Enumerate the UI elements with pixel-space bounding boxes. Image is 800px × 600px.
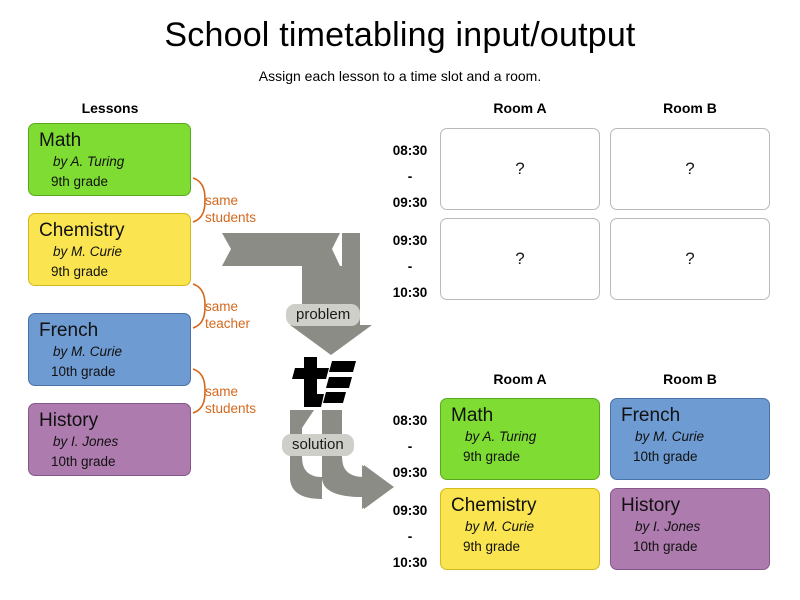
lesson-card-history[interactable]: History by I. Jones 10th grade: [28, 403, 191, 476]
constraint-line-1: same: [205, 192, 256, 209]
problem-label: problem: [286, 304, 360, 326]
lesson-subject: French: [621, 405, 769, 427]
timeslot-start: 09:30: [378, 228, 442, 254]
timeslot-start: 08:30: [378, 408, 442, 434]
problem-room-header-a: Room A: [440, 100, 600, 116]
lesson-grade: 9th grade: [39, 172, 190, 192]
timefold-logo-icon: [288, 357, 356, 407]
lesson-subject: Math: [39, 130, 190, 152]
unassigned-marker: ?: [515, 159, 524, 179]
timeslot-start: 09:30: [378, 498, 442, 524]
unassigned-marker: ?: [515, 249, 524, 269]
lesson-grade: 10th grade: [39, 452, 190, 472]
problem-slot-roomA-0830[interactable]: ?: [440, 128, 600, 210]
lesson-teacher: by M. Curie: [39, 242, 190, 262]
page-title: School timetabling input/output: [0, 16, 800, 55]
lesson-grade: 10th grade: [621, 537, 769, 557]
lesson-grade: 10th grade: [39, 362, 190, 382]
problem-timeslot-2: 09:30 - 10:30: [378, 228, 442, 306]
timeslot-dash: -: [378, 254, 442, 280]
solution-card-roomA-0930[interactable]: Chemistry by M. Curie 9th grade: [440, 488, 600, 570]
timeslot-end: 09:30: [378, 190, 442, 216]
solution-card-roomB-0830[interactable]: French by M. Curie 10th grade: [610, 398, 770, 480]
lesson-teacher: by M. Curie: [39, 342, 190, 362]
solution-room-header-a: Room A: [440, 371, 600, 387]
timeslot-dash: -: [378, 164, 442, 190]
solution-label: solution: [282, 434, 354, 456]
lesson-card-chemistry[interactable]: Chemistry by M. Curie 9th grade: [28, 213, 191, 286]
problem-arrow-icon: [222, 233, 372, 355]
problem-slot-roomB-0930[interactable]: ?: [610, 218, 770, 300]
lesson-subject: French: [39, 320, 190, 342]
timeslot-end: 10:30: [378, 550, 442, 576]
lesson-subject: Chemistry: [451, 495, 599, 517]
lesson-card-french[interactable]: French by M. Curie 10th grade: [28, 313, 191, 386]
problem-slot-roomA-0930[interactable]: ?: [440, 218, 600, 300]
lesson-grade: 9th grade: [451, 537, 599, 557]
lesson-teacher: by A. Turing: [451, 427, 599, 447]
page-subtitle: Assign each lesson to a time slot and a …: [0, 68, 800, 84]
timeslot-dash: -: [378, 434, 442, 460]
lesson-card-math[interactable]: Math by A. Turing 9th grade: [28, 123, 191, 196]
lesson-grade: 10th grade: [621, 447, 769, 467]
solution-card-roomB-0930[interactable]: History by I. Jones 10th grade: [610, 488, 770, 570]
lesson-teacher: by M. Curie: [451, 517, 599, 537]
lesson-teacher: by M. Curie: [621, 427, 769, 447]
timeslot-start: 08:30: [378, 138, 442, 164]
constraint-line-2: students: [205, 209, 256, 226]
lesson-grade: 9th grade: [451, 447, 599, 467]
solution-timeslot-2: 09:30 - 10:30: [378, 498, 442, 576]
solution-room-header-b: Room B: [610, 371, 770, 387]
lesson-teacher: by I. Jones: [39, 432, 190, 452]
problem-slot-roomB-0830[interactable]: ?: [610, 128, 770, 210]
timeslot-end: 10:30: [378, 280, 442, 306]
solution-card-roomA-0830[interactable]: Math by A. Turing 9th grade: [440, 398, 600, 480]
solution-timeslot-1: 08:30 - 09:30: [378, 408, 442, 486]
lesson-subject: Math: [451, 405, 599, 427]
lesson-grade: 9th grade: [39, 262, 190, 282]
unassigned-marker: ?: [685, 159, 694, 179]
lesson-subject: History: [621, 495, 769, 517]
timeslot-dash: -: [378, 524, 442, 550]
problem-room-header-b: Room B: [610, 100, 770, 116]
lessons-heading: Lessons: [30, 100, 190, 116]
timeslot-end: 09:30: [378, 460, 442, 486]
lesson-subject: History: [39, 410, 190, 432]
constraint-label-same-students-1: same students: [205, 192, 256, 226]
problem-timeslot-1: 08:30 - 09:30: [378, 138, 442, 216]
unassigned-marker: ?: [685, 249, 694, 269]
lesson-teacher: by A. Turing: [39, 152, 190, 172]
lesson-subject: Chemistry: [39, 220, 190, 242]
lesson-teacher: by I. Jones: [621, 517, 769, 537]
